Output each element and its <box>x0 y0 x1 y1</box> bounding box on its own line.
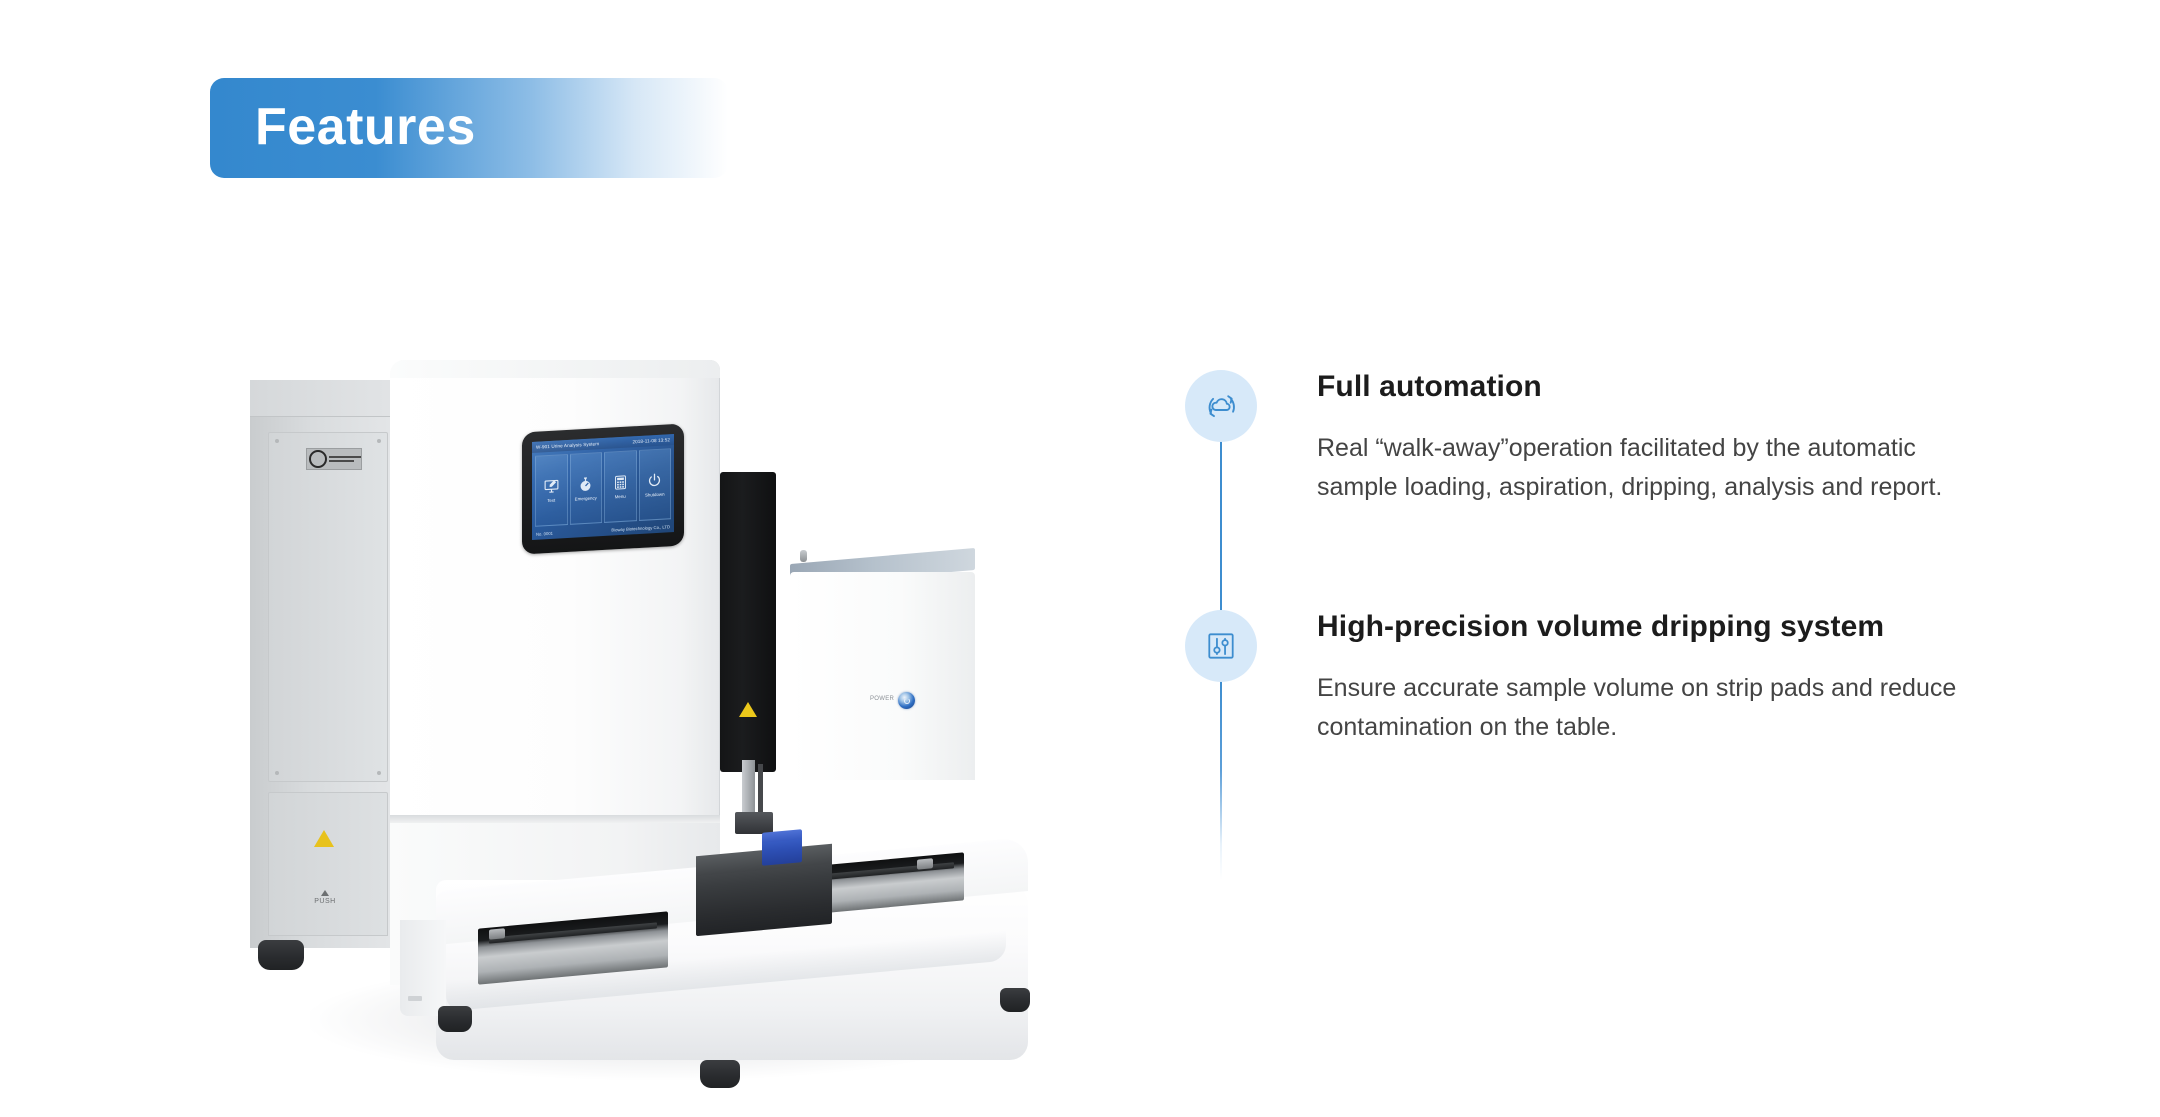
tray-rail <box>489 922 656 943</box>
power-indicator-icon <box>898 692 915 709</box>
feature-title: Full automation <box>1317 370 2015 403</box>
cabinet-knob <box>800 550 807 562</box>
tray-clip <box>489 928 505 939</box>
power-label-text: POWER <box>870 696 894 702</box>
features-list: Full automation Real “walk-away”operatio… <box>1185 370 2015 750</box>
push-label-text: PUSH <box>314 898 335 905</box>
feature-item-full-automation: Full automation Real “walk-away”operatio… <box>1185 370 2015 510</box>
feature-description: Real “walk-away”operation facilitated by… <box>1317 429 1977 507</box>
sliders-precision-icon <box>1185 610 1257 682</box>
touchscreen-tile-label: Shutdown <box>645 492 665 498</box>
stopwatch-icon <box>577 475 594 493</box>
machine-right-cabinet <box>790 572 975 780</box>
monitor-pen-icon <box>543 477 560 495</box>
touchscreen-tiles: Test Emergency <box>535 448 671 527</box>
machine-foot <box>258 940 304 970</box>
tray-clip <box>917 858 933 869</box>
feature-title: High-precision volume dripping system <box>1317 610 2015 643</box>
no-open-warning-label <box>306 448 362 470</box>
machine-lower-door <box>268 792 388 936</box>
machine-vent <box>408 996 422 1001</box>
touchscreen-vendor: Bioway Biotechnology Co., LTD <box>611 524 670 532</box>
biohazard-triangle-icon <box>314 830 334 847</box>
touchscreen-tile-shutdown[interactable]: Shutdown <box>639 448 672 521</box>
machine-body-skirt-edge <box>390 815 720 823</box>
features-banner: Features <box>210 78 728 178</box>
touchscreen-serial: No. 0001 <box>536 530 553 536</box>
touchscreen-datetime: 2018-11-08 13:52 <box>632 437 670 444</box>
machine-foot <box>700 1060 740 1088</box>
touchscreen-tile-test[interactable]: Test <box>535 454 568 527</box>
machine-dark-column <box>720 472 776 772</box>
machine-base-left-wing <box>400 920 446 1016</box>
touchscreen[interactable]: W-901 Urine Analysis System 2018-11-08 1… <box>532 434 674 540</box>
machine-foot <box>438 1006 472 1032</box>
pipette-head <box>735 812 773 834</box>
machine-foot <box>1000 988 1030 1012</box>
calculator-icon <box>612 474 629 492</box>
touchscreen-tile-label: Test <box>547 498 555 503</box>
page-title: Features <box>255 97 476 157</box>
warning-label-text <box>329 456 361 462</box>
touchscreen-tile-menu[interactable]: Menu <box>604 450 637 523</box>
push-arrow-icon <box>321 890 329 896</box>
push-label: PUSH <box>310 890 340 905</box>
feature-connector-line <box>1220 680 1222 880</box>
touchscreen-tile-label: Menu <box>615 494 626 500</box>
power-icon <box>646 472 663 490</box>
urine-analyzer-image: PUSH POWER W-901 Urine Analysis Sys <box>250 360 1080 1060</box>
prohibition-icon <box>309 450 327 468</box>
touchscreen-tile-label: Emergency <box>575 495 597 501</box>
touchscreen-tile-emergency[interactable]: Emergency <box>570 452 603 525</box>
screw-icon <box>377 439 381 443</box>
machine-service-door <box>268 432 388 782</box>
machine-left-tower-top <box>250 380 398 417</box>
touchscreen-title: W-901 Urine Analysis System <box>536 441 599 450</box>
feature-description: Ensure accurate sample volume on strip p… <box>1317 669 1977 747</box>
screw-icon <box>275 439 279 443</box>
feature-item-high-precision-dripping: High-precision volume dripping system En… <box>1185 610 2015 750</box>
screw-icon <box>377 771 381 775</box>
cloud-sync-icon <box>1185 370 1257 442</box>
machine-body-top <box>390 360 720 378</box>
column-warning-triangle-icon <box>739 702 757 717</box>
screw-icon <box>275 771 279 775</box>
